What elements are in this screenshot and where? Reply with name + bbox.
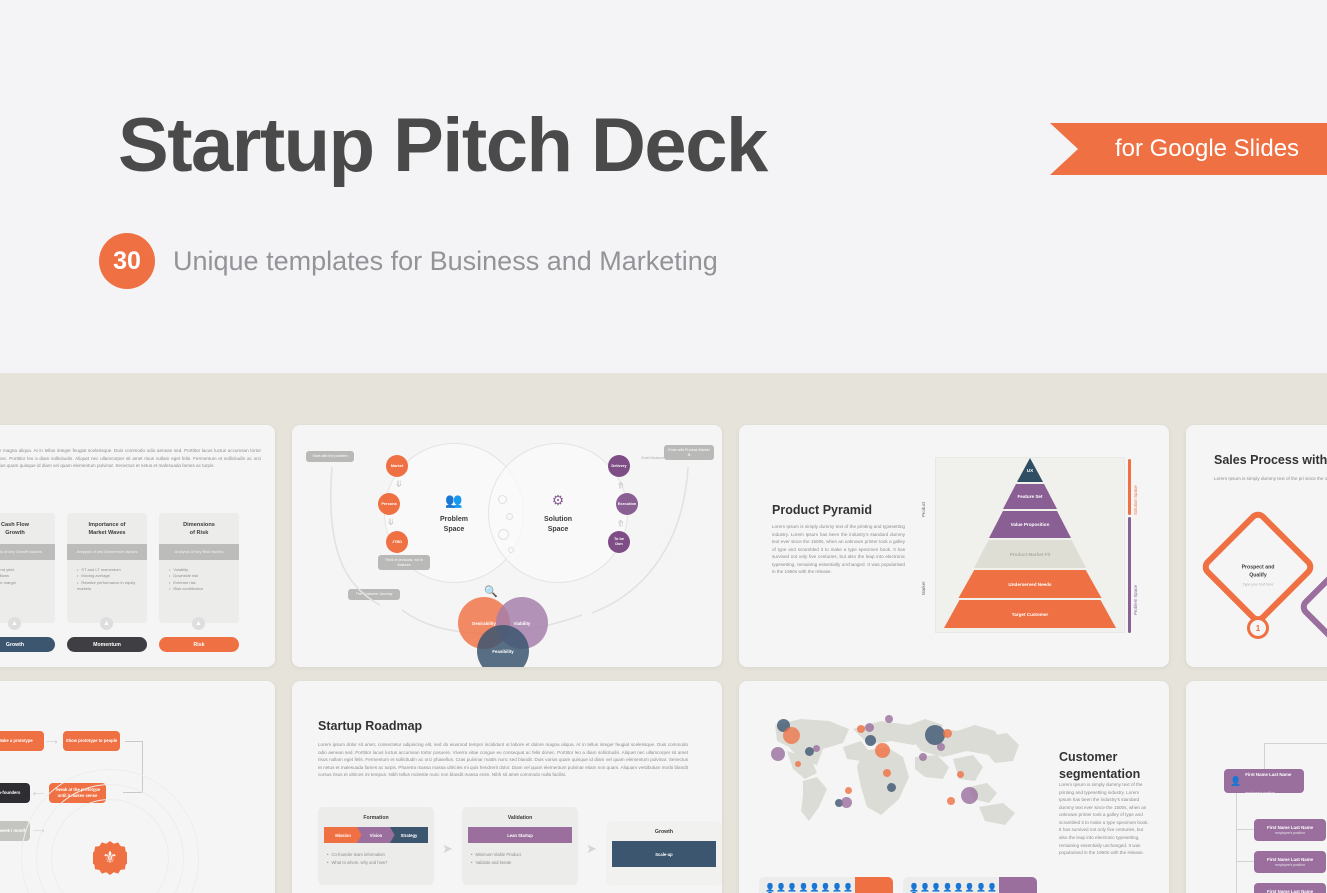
- list-item: EPS: [0, 586, 55, 593]
- map-bubble: [795, 761, 801, 767]
- slide-title: Customer segmentation: [1059, 749, 1140, 783]
- slide-sales-process[interactable]: Sales Process with Solu Lorem Ipsum is s…: [1186, 425, 1327, 667]
- column-card-band: Analysis of key Growth factors: [0, 544, 55, 560]
- slide-investment-factors[interactable]: elit, sed do eiusmod tempor incididunt u…: [0, 425, 275, 667]
- slide-product-pyramid[interactable]: Product Pyramid Lorem Ipsum is simply du…: [739, 425, 1169, 667]
- org-node-name: First Name Last Name: [1245, 772, 1291, 777]
- org-connector: [1236, 861, 1254, 862]
- org-node-position: employee's position: [1275, 863, 1305, 867]
- phase-title: Formation: [318, 807, 434, 821]
- org-node-child[interactable]: First Name Last Name employee's position: [1254, 883, 1326, 893]
- stat-card-45[interactable]: 👤👤👤👤👤👤👤👤👤👤👤👤 Lorem ipsum dolor sit amet,…: [759, 877, 893, 893]
- pyramid-level[interactable]: Product-Market Fit: [974, 540, 1086, 568]
- org-node-position: employee's position: [1275, 831, 1305, 835]
- map-bubble: [783, 727, 800, 744]
- list-item: Risk contribution: [169, 586, 239, 593]
- axis-label-product: Product: [921, 471, 926, 517]
- list-item: Cash flows: [0, 573, 55, 580]
- roadmap-phase-validation[interactable]: Validation Lean Startup Minimum Viable P…: [462, 807, 578, 885]
- column-card-band: Analysis of key Risk factors: [159, 544, 239, 560]
- arrow-left-icon: ⟵: [33, 789, 44, 798]
- map-bubble: [857, 725, 865, 733]
- phase-chevron[interactable]: Strategy: [390, 827, 428, 843]
- arrow-right-icon: ⟶: [46, 737, 57, 746]
- flow-connector: [125, 741, 143, 742]
- column-pill[interactable]: Momentum: [67, 637, 147, 652]
- problem-space-band: [1128, 517, 1131, 633]
- column-card-list: Volatility Downside risk Extreme risk Ri…: [159, 560, 239, 593]
- arrow-right-icon: ➤: [442, 841, 453, 857]
- list-item: Volatility: [169, 567, 239, 574]
- column-card-title: Cash Flow Growth: [0, 513, 55, 537]
- map-bubble: [925, 725, 945, 745]
- map-bubble: [885, 715, 893, 723]
- search-icon: 🔍: [484, 585, 498, 598]
- map-bubble: [919, 753, 927, 761]
- list-item: What to whom, why and how?: [327, 859, 434, 867]
- map-bubble: [883, 769, 891, 777]
- stat-percent: 55%: [999, 877, 1037, 893]
- axis-label-solution-space: Solution Space: [1133, 459, 1138, 515]
- org-node-root[interactable]: 👤 First Name Last Name employee's positi…: [1224, 769, 1304, 793]
- slide-body-text: Lorem Ipsum is simply dummy text of the …: [1214, 475, 1327, 483]
- avatar-icon: 👤: [1230, 776, 1241, 787]
- column-card[interactable]: Importance of Market Waves Analysis of k…: [67, 513, 147, 623]
- column-card-band: Analysis of key Momentum factors: [67, 544, 147, 560]
- phase-chevron[interactable]: Lean Startup: [468, 827, 572, 843]
- hero-banner: Startup Pitch Deck for Google Slides 30 …: [0, 0, 1327, 373]
- phase-list: Co-founder team information What to whom…: [318, 843, 434, 866]
- list-item: Relative performance in equity markets: [77, 580, 147, 593]
- column-pill[interactable]: Growth: [0, 637, 55, 652]
- stat-percent: 45%: [855, 877, 893, 893]
- list-item: Extreme risk: [169, 580, 239, 587]
- axis-label-market: Market: [921, 549, 926, 595]
- column-card[interactable]: Cash Flow Growth Analysis of key Growth …: [0, 513, 55, 623]
- list-item: Validate and iterate: [471, 859, 578, 867]
- slide-body-text: Lorem Ipsum is simply dummy text of the …: [1059, 781, 1151, 857]
- phase-title: Growth: [606, 821, 722, 835]
- page-subtitle: Unique templates for Business and Market…: [173, 246, 718, 277]
- phase-chevron[interactable]: Mission: [324, 827, 362, 843]
- pyramid-level[interactable]: Underserved Needs: [959, 570, 1102, 598]
- slide-org-chart[interactable]: 👤 First Name Last Name employee's positi…: [1186, 681, 1327, 893]
- slide-body-text: Lorem Ipsum is simply dummy text of the …: [772, 523, 905, 576]
- slide-customer-segmentation[interactable]: Customer segmentation Lorem Ipsum is sim…: [739, 681, 1169, 893]
- map-bubble: [865, 723, 874, 732]
- column-card-title: Dimensions of Risk: [159, 513, 239, 537]
- column-card-list: Dividend yield Cash flows Income margin …: [0, 560, 55, 593]
- roadmap-phase-growth[interactable]: Growth Scale-up: [606, 821, 722, 885]
- step-title: Prospect and Qualify: [1242, 565, 1275, 579]
- template-count-badge: 30: [99, 233, 155, 289]
- axis-label-problem-space: Problem Space: [1133, 535, 1138, 615]
- slide-title: Product Pyramid: [772, 503, 872, 517]
- list-item: Income margin: [0, 580, 55, 587]
- step-subtitle: Type your text here: [1243, 582, 1274, 586]
- list-item: Moving average: [77, 573, 147, 580]
- phase-list: Minimum Viable Product Validate and iter…: [462, 843, 578, 866]
- map-bubble: [841, 797, 852, 808]
- org-node-child[interactable]: First Name Last Name employee's position: [1254, 819, 1326, 841]
- slide-body-text: Lorem ipsum dolor sit amet, consectetur …: [318, 741, 688, 779]
- map-bubble: [947, 797, 955, 805]
- slide-startup-roadmap[interactable]: Startup Roadmap Lorem ipsum dolor sit am…: [292, 681, 722, 893]
- slide-body-text: elit, sed do eiusmod tempor incididunt u…: [0, 447, 261, 470]
- solution-space-band: [1128, 459, 1131, 515]
- roadmap-phase-formation[interactable]: Formation Mission Vision Strategy Co-fou…: [318, 807, 434, 885]
- org-connector: [1264, 743, 1327, 744]
- list-item: Co-founder team information: [327, 851, 434, 859]
- pyramid-level[interactable]: Target Customer: [944, 600, 1116, 628]
- list-item: Downside risk: [169, 573, 239, 580]
- flow-box[interactable]: Find a co-founders: [0, 783, 30, 803]
- google-slides-ribbon: for Google Slides: [1050, 123, 1327, 175]
- column-card[interactable]: Dimensions of Risk Analysis of key Risk …: [159, 513, 239, 623]
- ribbon-label: for Google Slides: [1091, 135, 1299, 163]
- chevron-up-icon: ▲: [192, 617, 205, 630]
- flow-box[interactable]: Show prototype to people: [63, 731, 120, 751]
- slide-problem-solution[interactable]: 👥 Problem Space ⚙ Solution Space Market …: [292, 425, 722, 667]
- pyramid: UX Feature Set Value Proposition Product…: [935, 457, 1125, 633]
- column-pill[interactable]: Risk: [159, 637, 239, 652]
- map-bubble: [813, 745, 820, 752]
- map-bubble: [845, 787, 852, 794]
- map-bubble: [937, 743, 945, 751]
- org-node-position: employee's position: [1245, 791, 1275, 795]
- slide-gallery: elit, sed do eiusmod tempor incididunt u…: [0, 373, 1327, 893]
- slide-title: Startup Roadmap: [318, 719, 422, 733]
- pyramid-level[interactable]: Feature Set: [1003, 484, 1057, 509]
- map-bubble: [865, 735, 876, 746]
- step-number-badge: 1: [1247, 617, 1269, 639]
- flow-box[interactable]: Make a prototype: [0, 731, 44, 751]
- org-node-name: First Name Last Name: [1267, 889, 1313, 893]
- org-connector: [1236, 793, 1237, 893]
- column-card-list: ST and LT momentum Moving average Relati…: [67, 560, 147, 593]
- chevron-up-icon: ▲: [8, 617, 21, 630]
- map-bubble: [771, 747, 785, 761]
- org-connector: [1236, 829, 1254, 830]
- list-item: ST and LT momentum: [77, 567, 147, 574]
- pyramid-level[interactable]: UX: [1017, 458, 1043, 482]
- phase-title: Validation: [462, 807, 578, 821]
- page-title: Startup Pitch Deck: [118, 108, 767, 184]
- list-item: Dividend yield: [0, 567, 55, 574]
- phase-chevron[interactable]: Vision: [357, 827, 395, 843]
- map-bubble: [961, 787, 978, 804]
- map-bubble: [875, 743, 890, 758]
- arrow-right-icon: ➤: [586, 841, 597, 857]
- slide-launch-flow[interactable]: ⟶ Write it down and bounce idea ⟶ Make a…: [0, 681, 275, 893]
- map-bubble: [887, 783, 896, 792]
- phase-chevron[interactable]: Scale-up: [612, 841, 716, 867]
- column-card-title: Importance of Market Waves: [67, 513, 147, 537]
- slide-title: Sales Process with Solu: [1214, 453, 1327, 467]
- org-node-child[interactable]: First Name Last Name employee's position: [1254, 851, 1326, 873]
- subtitle-row: 30 Unique templates for Business and Mar…: [99, 233, 718, 289]
- map-bubble: [943, 729, 952, 738]
- pyramid-level[interactable]: Value Proposition: [989, 511, 1071, 538]
- world-map: [757, 703, 1039, 843]
- map-bubble: [957, 771, 964, 778]
- chevron-up-icon: ▲: [100, 617, 113, 630]
- stat-card-55[interactable]: 👤👤👤👤👤👤👤👤👤👤👤👤 Lorem ipsum dolor sit amet,…: [903, 877, 1037, 893]
- list-item: Minimum Viable Product: [471, 851, 578, 859]
